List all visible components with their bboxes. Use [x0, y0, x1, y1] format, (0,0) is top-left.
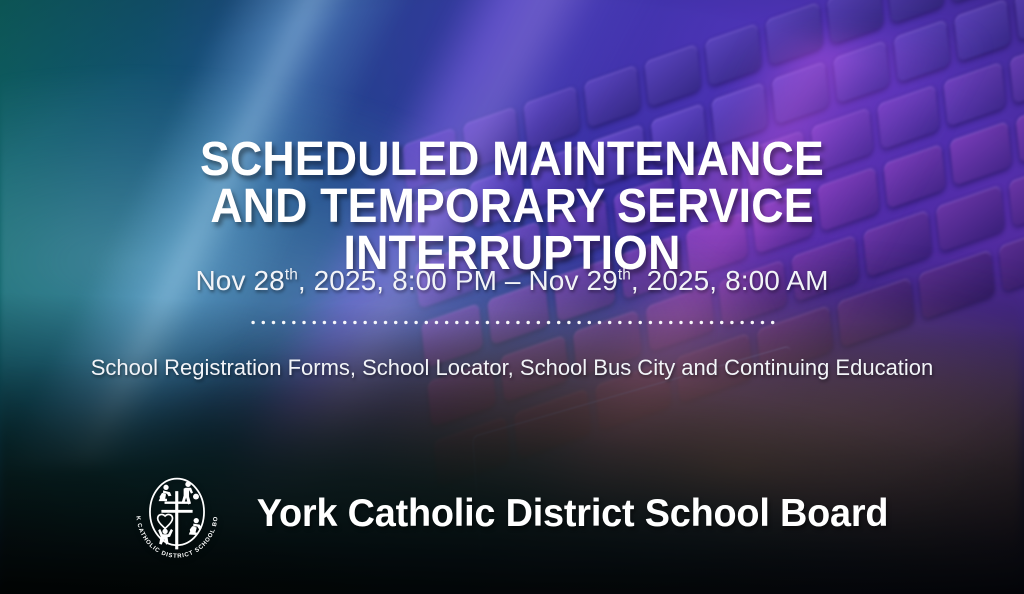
- affected-services-text: School Registration Forms, School Locato…: [0, 355, 1024, 381]
- range-separator: –: [497, 265, 528, 296]
- page-title: SCHEDULED MAINTENANCE AND TEMPORARY SERV…: [36, 136, 988, 277]
- headline-line-2: AND TEMPORARY SERVICE: [36, 183, 988, 230]
- end-date-ordinal: th: [618, 267, 631, 284]
- organization-name: York Catholic District School Board: [257, 492, 889, 536]
- start-time: , 2025, 8:00 PM: [298, 265, 497, 296]
- start-date: Nov 28: [195, 265, 284, 296]
- end-date: Nov 29: [528, 265, 617, 296]
- start-date-ordinal: th: [285, 267, 298, 284]
- ycdsb-crest-icon: YORK CATHOLIC DISTRICT SCHOOL BOARD: [125, 462, 229, 566]
- maintenance-notice-banner: SCHEDULED MAINTENANCE AND TEMPORARY SERV…: [0, 0, 1024, 594]
- dotted-divider: [248, 320, 780, 325]
- organization-lockup: YORK CATHOLIC DISTRICT SCHOOL BOARD York…: [0, 462, 1024, 566]
- end-time: , 2025, 8:00 AM: [631, 265, 829, 296]
- banner-content: SCHEDULED MAINTENANCE AND TEMPORARY SERV…: [0, 0, 1024, 594]
- headline-line-1: SCHEDULED MAINTENANCE: [36, 136, 988, 183]
- maintenance-window: Nov 28th, 2025, 8:00 PM – Nov 29th, 2025…: [0, 265, 1024, 297]
